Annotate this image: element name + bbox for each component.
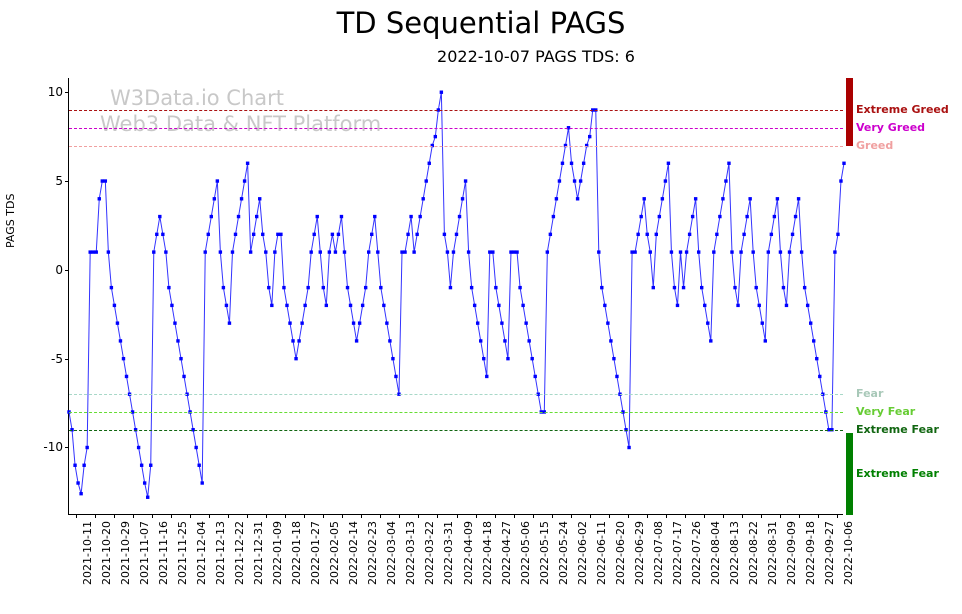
x-tick-label: 2022-10-06 <box>842 521 855 585</box>
x-tick-label: 2022-06-11 <box>595 521 608 585</box>
x-tick-label: 2022-02-23 <box>366 521 379 585</box>
x-tick-mark <box>399 514 400 518</box>
x-tick-mark <box>133 514 134 518</box>
x-tick-mark <box>380 514 381 518</box>
x-tick-mark <box>609 514 610 518</box>
x-tick-mark <box>437 514 438 518</box>
plot-area: -10-50510 2021-10-112021-10-202021-10-29… <box>68 78 843 515</box>
x-tick-mark <box>285 514 286 518</box>
x-tick-mark <box>152 514 153 518</box>
threshold-label-extreme-fear: Extreme Fear <box>856 467 939 480</box>
threshold-line-very-greed <box>69 128 843 129</box>
y-tick-mark <box>65 181 69 182</box>
x-tick-label: 2022-04-18 <box>481 521 494 585</box>
x-tick-mark <box>495 514 496 518</box>
x-tick-label: 2022-01-27 <box>309 521 322 585</box>
x-tick-label: 2022-02-14 <box>347 521 360 585</box>
x-tick-mark <box>266 514 267 518</box>
x-tick-mark <box>723 514 724 518</box>
x-tick-label: 2022-02-05 <box>328 521 341 585</box>
x-tick-mark <box>114 514 115 518</box>
y-axis-label: PAGS TDS <box>4 194 17 248</box>
y-tick-mark <box>65 447 69 448</box>
x-tick-mark <box>818 514 819 518</box>
y-tick-label: -5 <box>51 352 63 366</box>
x-tick-mark <box>342 514 343 518</box>
x-tick-mark <box>457 514 458 518</box>
x-tick-label: 2021-11-25 <box>176 521 189 585</box>
x-tick-label: 2022-09-18 <box>804 521 817 585</box>
x-tick-mark <box>799 514 800 518</box>
threshold-label-very-fear: Very Fear <box>856 405 915 418</box>
x-tick-mark <box>476 514 477 518</box>
x-tick-label: 2022-04-09 <box>462 521 475 585</box>
x-tick-label: 2021-12-13 <box>214 521 227 585</box>
x-tick-mark <box>571 514 572 518</box>
x-tick-label: 2021-10-20 <box>100 521 113 585</box>
x-tick-label: 2022-08-31 <box>766 521 779 585</box>
x-tick-mark <box>323 514 324 518</box>
threshold-label-fear: Fear <box>856 387 883 400</box>
x-tick-label: 2021-10-11 <box>81 521 94 585</box>
x-tick-mark <box>780 514 781 518</box>
x-tick-mark <box>304 514 305 518</box>
x-tick-label: 2022-03-31 <box>442 521 455 585</box>
x-tick-mark <box>685 514 686 518</box>
x-tick-label: 2022-06-02 <box>576 521 589 585</box>
threshold-line-greed <box>69 146 843 147</box>
x-tick-mark <box>514 514 515 518</box>
x-tick-label: 2022-07-17 <box>671 521 684 585</box>
x-tick-label: 2022-05-15 <box>538 521 551 585</box>
x-tick-label: 2021-12-31 <box>252 521 265 585</box>
threshold-line-extreme-greed <box>69 110 843 111</box>
threshold-line-very-fear <box>69 412 843 413</box>
colorbar-extreme-fear <box>846 433 853 515</box>
x-tick-mark <box>209 514 210 518</box>
x-tick-mark <box>837 514 838 518</box>
threshold-label-very-greed: Very Greed <box>856 121 925 134</box>
x-tick-mark <box>190 514 191 518</box>
y-tick-mark <box>65 270 69 271</box>
x-tick-label: 2021-11-16 <box>157 521 170 585</box>
threshold-label-extreme-greed: Extreme Greed <box>856 103 949 116</box>
y-tick-mark <box>65 92 69 93</box>
x-tick-label: 2022-07-08 <box>652 521 665 585</box>
x-tick-label: 2021-12-04 <box>195 521 208 585</box>
colorbar-extreme-greed <box>846 78 853 146</box>
x-tick-label: 2022-06-29 <box>633 521 646 585</box>
series-line <box>69 78 844 515</box>
x-tick-label: 2022-09-27 <box>823 521 836 585</box>
x-tick-mark <box>742 514 743 518</box>
x-tick-mark <box>590 514 591 518</box>
x-tick-mark <box>533 514 534 518</box>
x-tick-label: 2022-08-04 <box>709 521 722 585</box>
y-tick-label: -10 <box>43 440 63 454</box>
x-tick-label: 2021-10-29 <box>119 521 132 585</box>
x-tick-mark <box>95 514 96 518</box>
chart-title: TD Sequential PAGS <box>0 6 962 40</box>
x-tick-label: 2022-04-27 <box>500 521 513 585</box>
x-tick-label: 2022-03-22 <box>423 521 436 585</box>
x-tick-label: 2021-11-07 <box>138 521 151 585</box>
x-tick-label: 2022-05-24 <box>557 521 570 585</box>
threshold-label-extreme-fear: Extreme Fear <box>856 423 939 436</box>
y-tick-label: 0 <box>55 263 63 277</box>
x-tick-mark <box>418 514 419 518</box>
x-tick-mark <box>647 514 648 518</box>
x-tick-mark <box>704 514 705 518</box>
x-tick-mark <box>628 514 629 518</box>
x-tick-mark <box>171 514 172 518</box>
chart-subtitle: 2022-10-07 PAGS TDS: 6 <box>0 47 962 66</box>
x-tick-mark <box>361 514 362 518</box>
x-tick-mark <box>666 514 667 518</box>
y-tick-label: 5 <box>55 174 63 188</box>
x-tick-label: 2022-03-13 <box>404 521 417 585</box>
y-tick-label: 10 <box>48 85 63 99</box>
threshold-label-greed: Greed <box>856 139 893 152</box>
threshold-line-fear <box>69 394 843 395</box>
x-tick-label: 2022-08-13 <box>728 521 741 585</box>
x-tick-label: 2022-07-26 <box>690 521 703 585</box>
x-tick-label: 2022-01-18 <box>290 521 303 585</box>
y-tick-mark <box>65 359 69 360</box>
x-tick-mark <box>247 514 248 518</box>
x-tick-label: 2022-09-09 <box>785 521 798 585</box>
x-tick-mark <box>761 514 762 518</box>
x-tick-label: 2022-08-22 <box>747 521 760 585</box>
x-tick-label: 2022-05-06 <box>519 521 532 585</box>
x-tick-label: 2021-12-22 <box>233 521 246 585</box>
x-tick-label: 2022-01-09 <box>271 521 284 585</box>
x-tick-mark <box>552 514 553 518</box>
x-tick-mark <box>228 514 229 518</box>
x-tick-mark <box>76 514 77 518</box>
x-tick-label: 2022-06-20 <box>614 521 627 585</box>
x-tick-label: 2022-03-04 <box>385 521 398 585</box>
threshold-line-extreme-fear <box>69 430 843 431</box>
